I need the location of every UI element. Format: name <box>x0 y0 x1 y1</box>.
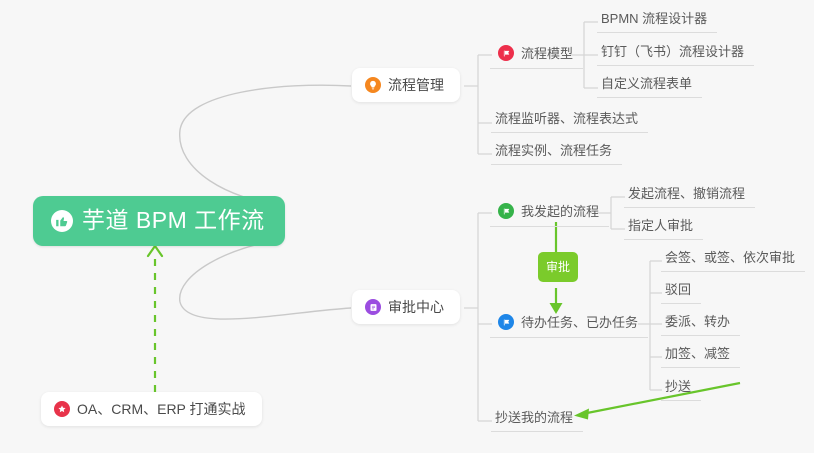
node-label: 加签、减签 <box>665 347 730 360</box>
node-reject[interactable]: 驳回 <box>661 283 701 304</box>
node-label: 抄送我的流程 <box>495 411 573 424</box>
node-my-started-process[interactable]: 我发起的流程 <box>490 203 609 227</box>
node-start-cancel-process[interactable]: 发起流程、撤销流程 <box>624 187 755 208</box>
tag-approval[interactable]: 审批 <box>538 252 578 282</box>
document-icon <box>365 299 381 315</box>
node-label: BPMN 流程设计器 <box>601 12 707 25</box>
footer-note-label: OA、CRM、ERP 打通实战 <box>77 402 246 416</box>
root-label: 芋道 BPM 工作流 <box>82 209 265 232</box>
flag-icon <box>498 203 514 219</box>
node-label: 会签、或签、依次审批 <box>665 251 795 264</box>
node-custom-process-form[interactable]: 自定义流程表单 <box>597 77 702 98</box>
node-label: 发起流程、撤销流程 <box>628 187 745 200</box>
node-label: 流程模型 <box>521 47 573 60</box>
node-label: 流程实例、流程任务 <box>495 144 612 157</box>
star-icon <box>54 401 70 417</box>
node-label: 待办任务、已办任务 <box>521 316 638 329</box>
mindmap-canvas: 芋道 BPM 工作流 流程管理 流程模型 BPMN 流程设计器 钉钉（飞书）流程… <box>0 0 814 453</box>
root-node[interactable]: 芋道 BPM 工作流 <box>33 196 285 246</box>
node-process-instance-task[interactable]: 流程实例、流程任务 <box>491 144 622 165</box>
node-label: 自定义流程表单 <box>601 77 692 90</box>
node-assignee-approval[interactable]: 指定人审批 <box>624 219 703 240</box>
node-process-model[interactable]: 流程模型 <box>490 45 583 69</box>
node-cc[interactable]: 抄送 <box>661 380 701 401</box>
node-delegate-transfer[interactable]: 委派、转办 <box>661 315 740 336</box>
node-process-listener-expression[interactable]: 流程监听器、流程表达式 <box>491 112 648 133</box>
node-dingtalk-feishu-designer[interactable]: 钉钉（飞书）流程设计器 <box>597 45 754 66</box>
branch-node-approval-center[interactable]: 审批中心 <box>352 290 460 324</box>
node-add-remove-sign[interactable]: 加签、减签 <box>661 347 740 368</box>
node-label: 钉钉（飞书）流程设计器 <box>601 45 744 58</box>
footer-note-node[interactable]: OA、CRM、ERP 打通实战 <box>41 392 262 426</box>
node-label: 驳回 <box>665 283 691 296</box>
node-label: 我发起的流程 <box>521 205 599 218</box>
node-label: 指定人审批 <box>628 219 693 232</box>
node-bpmn-designer[interactable]: BPMN 流程设计器 <box>597 12 717 33</box>
node-todo-done-task[interactable]: 待办任务、已办任务 <box>490 314 648 338</box>
flag-icon <box>498 45 514 61</box>
node-label: 抄送 <box>665 380 691 393</box>
node-cc-my-process[interactable]: 抄送我的流程 <box>491 411 583 432</box>
lightbulb-icon <box>365 77 381 93</box>
branch-label: 流程管理 <box>388 78 444 92</box>
flag-icon <box>498 314 514 330</box>
thumbs-up-icon <box>51 210 73 232</box>
node-label: 流程监听器、流程表达式 <box>495 112 638 125</box>
branch-label: 审批中心 <box>388 300 444 314</box>
tag-label: 审批 <box>546 260 570 274</box>
branch-node-process-management[interactable]: 流程管理 <box>352 68 460 102</box>
node-countersign-orsign-sequential[interactable]: 会签、或签、依次审批 <box>661 251 805 272</box>
node-label: 委派、转办 <box>665 315 730 328</box>
